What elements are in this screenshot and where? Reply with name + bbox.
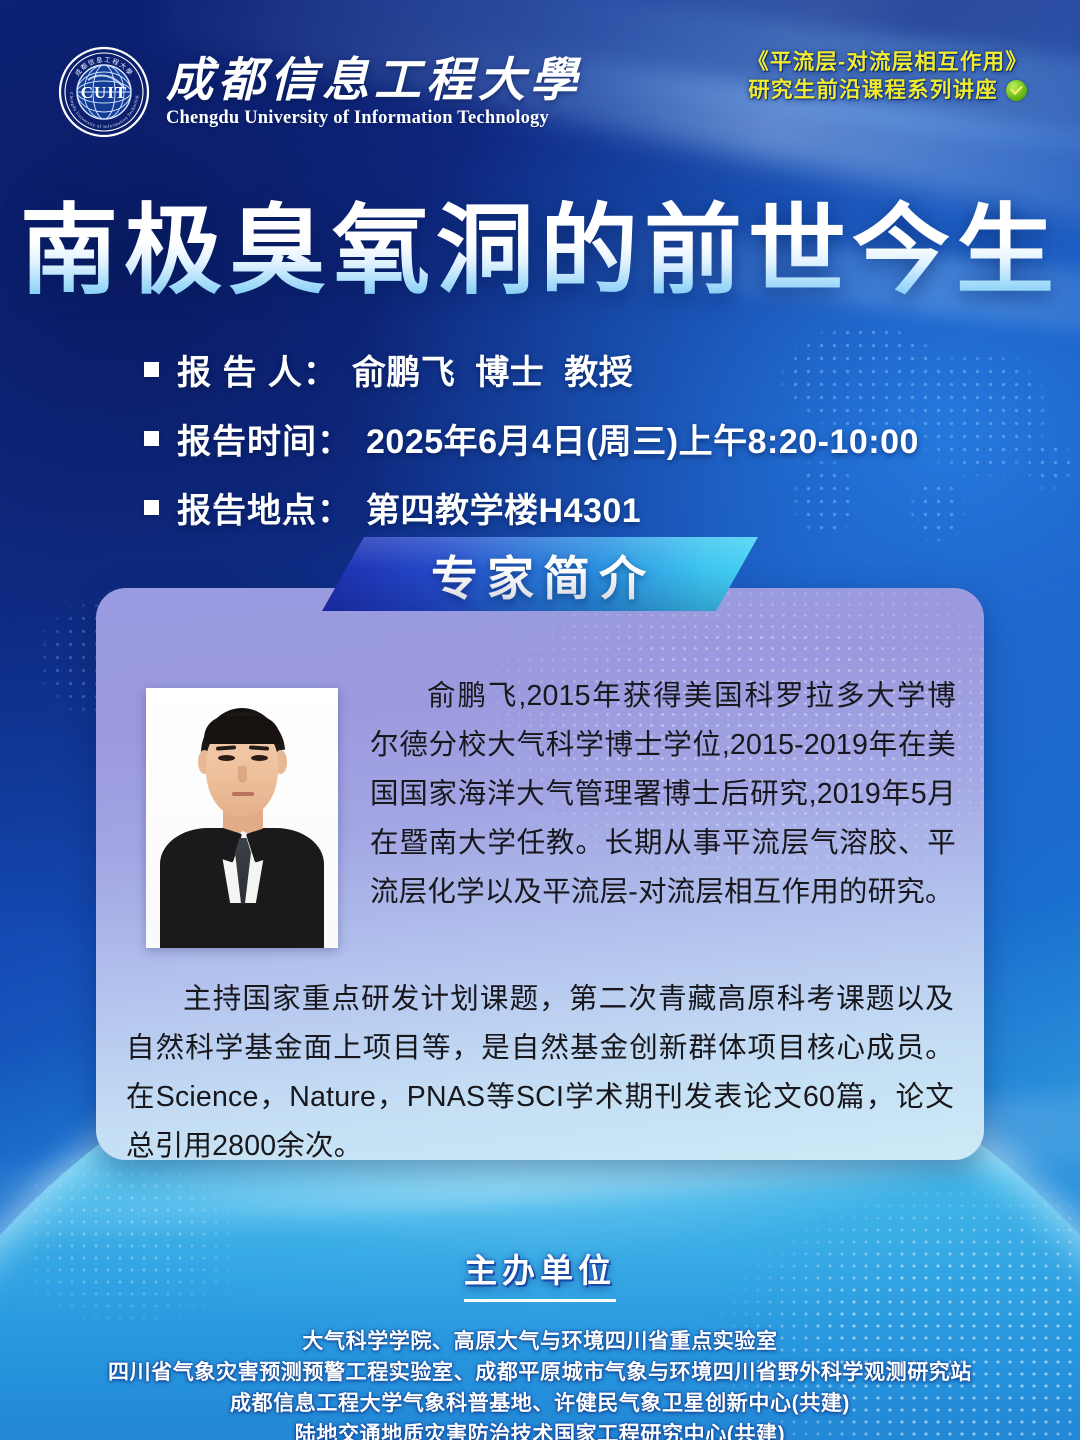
poster-header: CUIT 成都信息工程大學 Chengdu University of Info… bbox=[0, 0, 1080, 160]
series-title-line2-row: 研究生前沿课程系列讲座 bbox=[747, 76, 1028, 104]
bio-paragraph-1: 俞鹏飞,2015年获得美国科罗拉多大学博尔德分校大气科学博士学位,2015-20… bbox=[370, 672, 956, 917]
info-label-location: 报告地点： bbox=[177, 483, 352, 532]
info-label-time: 报告时间： bbox=[177, 414, 352, 463]
bio-paragraph-2: 主持国家重点研发计划课题，第二次青藏高原科考课题以及自然科学基金面上项目等，是自… bbox=[126, 975, 954, 1171]
series-title-line1: 《平流层-对流层相互作用》 bbox=[747, 48, 1028, 76]
page-title: 南极臭氧洞的前世今生 bbox=[0, 198, 1080, 304]
square-bullet-icon bbox=[144, 362, 159, 377]
lecture-poster: CUIT 成都信息工程大學 Chengdu University of Info… bbox=[0, 0, 1080, 1440]
course-series-label: 《平流层-对流层相互作用》 研究生前沿课程系列讲座 bbox=[747, 48, 1028, 105]
info-value-time: 2025年6月4日(周三)上午8:20-10:00 bbox=[366, 414, 919, 463]
info-label-speaker: 报 告 人： bbox=[177, 345, 338, 394]
speaker-portrait-photo bbox=[146, 688, 338, 948]
verified-check-badge-icon bbox=[1006, 80, 1027, 101]
brand-text-block: 成都信息工程大學 Chengdu University of Informati… bbox=[166, 55, 582, 129]
organizer-line: 成都信息工程大学气象科普基地、许健民气象卫星创新中心(共建) bbox=[0, 1388, 1080, 1419]
cuit-globe-emblem-icon: CUIT 成都信息工程大學 Chengdu University of Info… bbox=[58, 46, 150, 138]
info-row-speaker: 报 告 人： 俞鹏飞 博士 教授 bbox=[144, 345, 1004, 394]
info-value-location: 第四教学楼H4301 bbox=[366, 483, 641, 532]
university-name-en: Chengdu University of Information Techno… bbox=[166, 108, 582, 129]
square-bullet-icon bbox=[144, 431, 159, 446]
organizer-list: 大气科学学院、高原大气与环境四川省重点实验室 四川省气象灾害预测预警工程实验室、… bbox=[0, 1326, 1080, 1440]
lecture-info-list: 报 告 人： 俞鹏飞 博士 教授 报告时间： 2025年6月4日(周三)上午8:… bbox=[144, 345, 1004, 552]
info-row-location: 报告地点： 第四教学楼H4301 bbox=[144, 483, 1004, 532]
organizer-line: 四川省气象灾害预测预警工程实验室、成都平原城市气象与环境四川省野外科学观测研究站 bbox=[0, 1357, 1080, 1388]
bio-section-banner: 专家简介 bbox=[322, 537, 758, 611]
bio-section-banner-label: 专家简介 bbox=[425, 540, 655, 609]
footer-section-title: 主办单位 bbox=[464, 1244, 616, 1302]
info-value-speaker: 俞鹏飞 博士 教授 bbox=[352, 345, 633, 394]
poster-footer: 主办单位 大气科学学院、高原大气与环境四川省重点实验室 四川省气象灾害预测预警工… bbox=[0, 1244, 1080, 1440]
info-row-time: 报告时间： 2025年6月4日(周三)上午8:20-10:00 bbox=[144, 414, 1004, 463]
svg-text:CUIT: CUIT bbox=[81, 83, 128, 102]
organizer-line: 大气科学学院、高原大气与环境四川省重点实验室 bbox=[0, 1326, 1080, 1357]
series-title-line2: 研究生前沿课程系列讲座 bbox=[748, 76, 998, 104]
university-brand: CUIT 成都信息工程大學 Chengdu University of Info… bbox=[58, 46, 582, 138]
university-name-cn: 成都信息工程大學 bbox=[166, 57, 582, 106]
organizer-line: 陆地交通地质灾害防治技术国家工程研究中心(共建) bbox=[0, 1419, 1080, 1440]
square-bullet-icon bbox=[144, 500, 159, 515]
